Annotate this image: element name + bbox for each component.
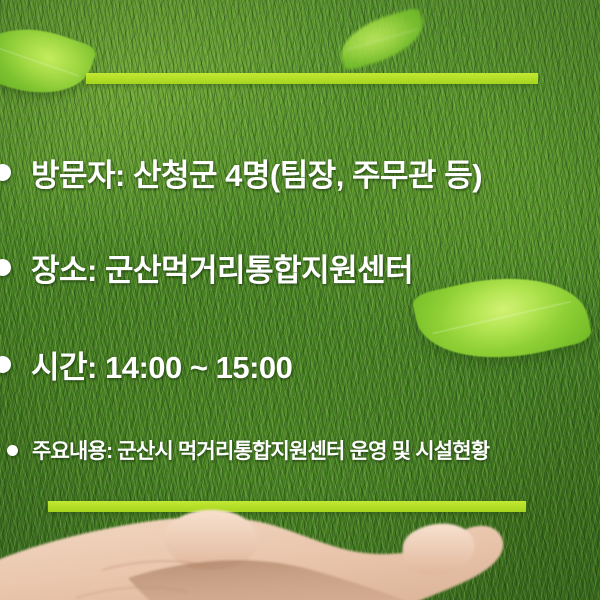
leaf-vein (433, 301, 571, 334)
list-item: 장소: 군산먹거리통합지원센터 (0, 245, 413, 290)
poster-slide: 방문자: 산청군 4명(팀장, 주무관 등) 장소: 군산먹거리통합지원센터 시… (0, 0, 600, 600)
bullet-dot-icon (7, 445, 18, 456)
bullet-dot-icon (0, 356, 11, 373)
list-item: 방문자: 산청군 4명(팀장, 주무관 등) (0, 150, 482, 195)
list-item-label: 방문자: 산청군 4명(팀장, 주무관 등) (31, 150, 482, 195)
bottom-accent-bar (48, 501, 526, 512)
list-item: 주요내용: 군산시 먹거리통합지원센터 운영 및 시설현황 (7, 435, 489, 465)
list-item: 시간: 14:00 ~ 15:00 (0, 342, 292, 387)
list-item-label: 장소: 군산먹거리통합지원센터 (31, 245, 413, 290)
leaf-vein (346, 28, 417, 49)
top-accent-bar (86, 73, 538, 84)
leaf-vein (0, 45, 79, 77)
bullet-dot-icon (0, 259, 11, 276)
list-item-label: 주요내용: 군산시 먹거리통합지원센터 운영 및 시설현황 (32, 435, 489, 465)
list-item-label: 시간: 14:00 ~ 15:00 (31, 342, 292, 387)
bullet-dot-icon (0, 164, 11, 181)
